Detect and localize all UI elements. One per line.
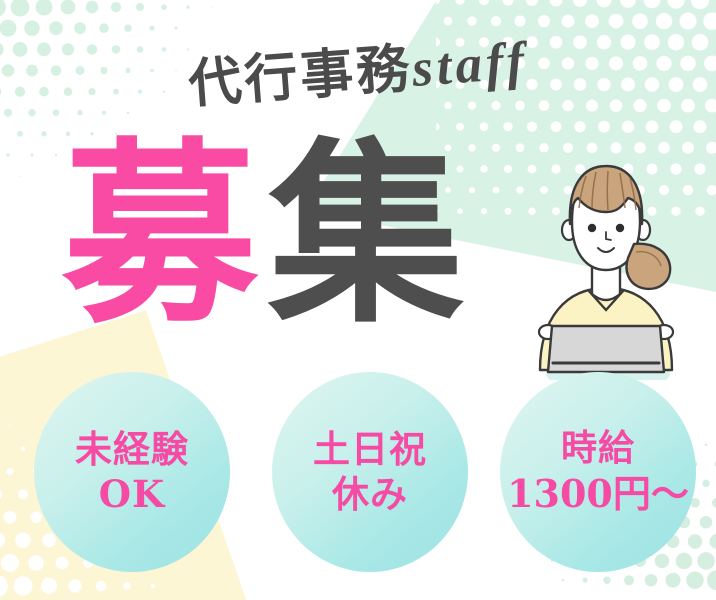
- headline-english: staff: [410, 31, 530, 99]
- recruitment-poster: 代行事務staff 募 集: [0, 0, 716, 600]
- feature-2-line-2: 休み: [332, 472, 408, 517]
- headline: 代行事務staff: [0, 4, 716, 132]
- feature-3-line-1: 時給: [561, 427, 635, 471]
- eye-right: [616, 224, 624, 232]
- feature-circle-1: 未経験 OK: [34, 372, 230, 572]
- main-heading-char-bo: 募: [62, 140, 268, 332]
- main-heading-char-syu: 集: [268, 140, 474, 332]
- feature-1-line-1: 未経験: [75, 427, 189, 472]
- feature-3-line-2: 1300円〜: [507, 471, 689, 517]
- feature-2-line-1: 土日祝: [313, 427, 427, 472]
- ponytail-shape: [627, 244, 671, 289]
- feature-circle-2: 土日祝 休み: [272, 372, 468, 572]
- feature-circles: 未経験 OK 土日祝 休み 時給 1300円〜: [0, 372, 716, 572]
- eye-left: [588, 224, 596, 232]
- main-heading-bosyu: 募 集: [62, 140, 474, 332]
- feature-circle-3: 時給 1300円〜: [500, 372, 696, 572]
- headline-japanese: 代行事務: [186, 26, 415, 118]
- woman-with-laptop-illustration: [516, 160, 696, 380]
- laptop-screen: [548, 326, 664, 372]
- feature-1-line-2: OK: [99, 472, 165, 517]
